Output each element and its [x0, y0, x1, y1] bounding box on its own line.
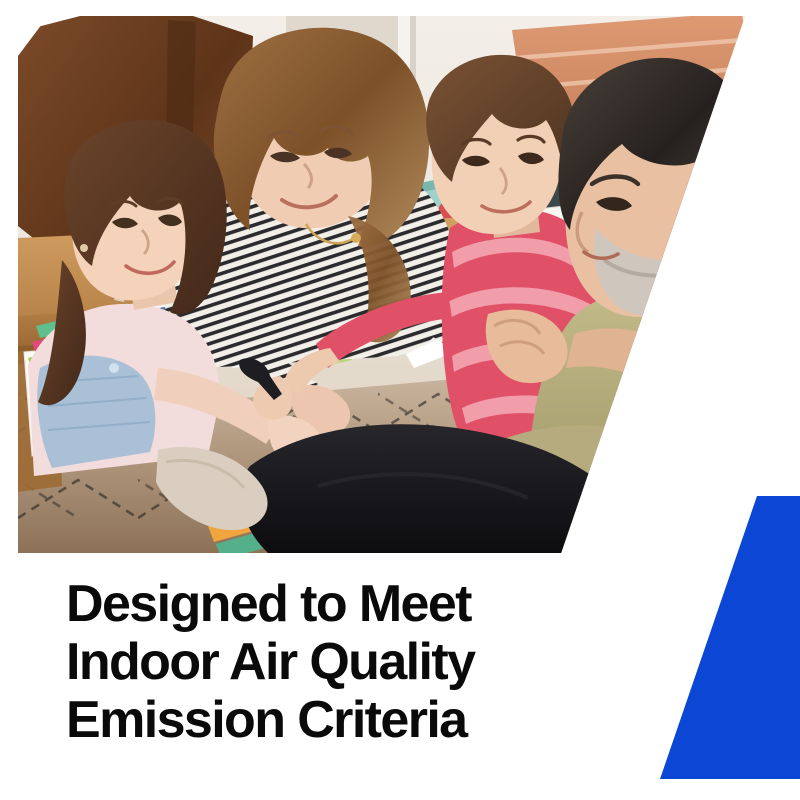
- headline-block: Designed to Meet Indoor Air Quality Emis…: [66, 575, 666, 749]
- blue-accent-shape: [655, 496, 800, 779]
- hero-photo-illustration: [18, 16, 748, 553]
- blue-trapezoid: [660, 496, 800, 779]
- hero-photo-block: [0, 0, 800, 560]
- headline-line-2: Indoor Air Quality: [66, 633, 666, 691]
- hero-photo: [18, 16, 748, 553]
- poster-canvas: Designed to Meet Indoor Air Quality Emis…: [0, 0, 800, 800]
- headline-line-1: Designed to Meet: [66, 575, 666, 633]
- headline-line-3: Emission Criteria: [66, 691, 666, 749]
- blue-accent-svg: [655, 496, 800, 779]
